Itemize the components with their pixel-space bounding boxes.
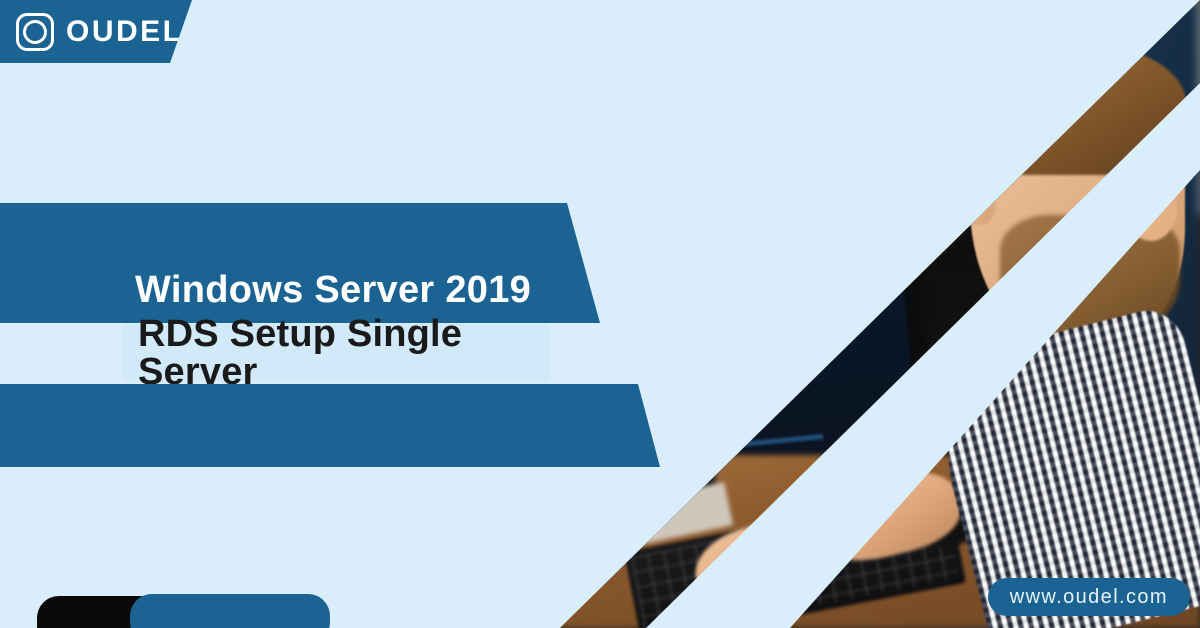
- windows-flag-icon: [898, 170, 918, 212]
- code-line: [636, 434, 824, 457]
- brand-name: OUDEL: [66, 17, 184, 47]
- ide-titlebar: [545, 146, 891, 195]
- window-mullion: [618, 0, 632, 230]
- title-highlight-band: RDS Setup Single Server: [122, 324, 550, 381]
- code-line: [624, 323, 720, 337]
- title-panel-top: Windows Server 2019: [0, 203, 600, 323]
- code-line: [631, 385, 791, 405]
- office-photo: 2: [500, 0, 1200, 628]
- code-line-error: [636, 279, 746, 295]
- website-url-text: www.oudel.com: [1010, 587, 1168, 607]
- ceiling-light: [756, 0, 995, 22]
- ceiling-light: [697, 100, 873, 116]
- banner-root: 2: [0, 0, 1200, 628]
- menu-item: [692, 181, 722, 189]
- code-line: [622, 307, 664, 316]
- page-title-line2: RDS Setup Single Server: [138, 315, 550, 391]
- nose: [955, 175, 995, 225]
- code-line: [620, 265, 656, 273]
- sticker-text: 2: [927, 164, 956, 216]
- code-line: [648, 238, 710, 249]
- ear: [1125, 175, 1177, 241]
- code-line: [640, 402, 764, 419]
- title-panel-bottom: [0, 384, 660, 467]
- code-line: [650, 363, 742, 377]
- website-url-badge[interactable]: www.oudel.com: [988, 578, 1190, 616]
- menu-item: [621, 188, 655, 196]
- ceiling-light: [500, 4, 736, 30]
- code-line: [625, 331, 769, 350]
- code-line-error: [629, 273, 703, 285]
- decor-pill-blue: [130, 594, 330, 628]
- hair: [982, 45, 1187, 175]
- ide-menubar: [547, 162, 893, 207]
- menu-item: [555, 195, 577, 202]
- brand-header[interactable]: OUDEL: [0, 0, 192, 63]
- window-mullion: [930, 0, 944, 230]
- menu-item: [585, 192, 615, 200]
- windows-logo-sticker-icon: 2: [898, 162, 956, 224]
- menu-item: [661, 185, 687, 192]
- page-title-line1: Windows Server 2019: [135, 271, 531, 309]
- ceiling-light: [917, 75, 1103, 91]
- code-line: [626, 222, 704, 234]
- code-line: [667, 211, 681, 217]
- code-line: [623, 304, 799, 326]
- code-line: [629, 359, 685, 369]
- oudel-swirl-square-icon: [16, 13, 54, 51]
- ceiling-light: [635, 52, 845, 72]
- code-line: [615, 212, 661, 221]
